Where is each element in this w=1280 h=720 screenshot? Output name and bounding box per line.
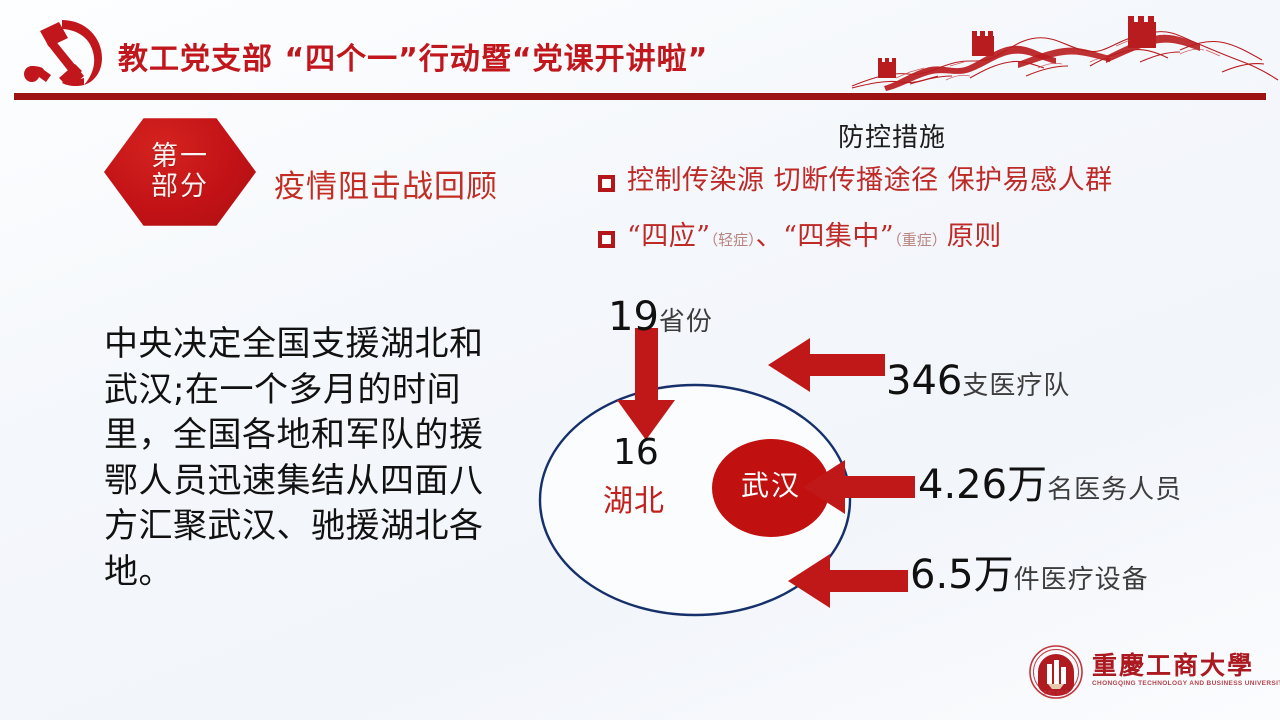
inflow-number-1: 346 xyxy=(886,358,962,404)
inflow-unit-1: 支医疗队 xyxy=(962,371,1070,401)
bullet-2-part-3: 原则 xyxy=(947,221,1002,252)
hubei-count: 16 xyxy=(613,432,659,473)
hubei-label: 湖北 xyxy=(603,476,665,520)
inflow-number-3: 6.5万 xyxy=(910,552,1014,598)
bullet-text-2: “四应”（轻症）、“四集中”（重症）原则 xyxy=(627,221,1002,253)
inflow-top-number: 19 xyxy=(608,294,659,340)
university-name-cn: 重慶工商大學 xyxy=(1092,646,1254,682)
inflow-number-2: 4.26万 xyxy=(918,462,1047,508)
bullet-text-1: 控制传染源 切断传播途径 保护易感人群 xyxy=(627,165,1113,197)
body-paragraph: 中央决定全国支援湖北和武汉;在一个多月的时间里，全国各地和军队的援鄂人员迅速集结… xyxy=(104,322,504,595)
badge-line-1: 第一 xyxy=(151,142,209,172)
left-arrow-icon xyxy=(768,338,885,392)
section-badge-text: 第一 部分 xyxy=(104,116,256,228)
slide-header: 教工党支部 “四个一”行动暨“党课开讲啦” xyxy=(0,0,1280,96)
wuhan-label: 武汉 xyxy=(716,464,826,504)
bullet-2-part-2: 、“四集中” xyxy=(756,221,895,252)
bullet-2-note-2: （重症） xyxy=(894,231,947,249)
university-logo: 重慶工商大學 重慶工商大學 CHONGQING TECHNOLOGY AND B… xyxy=(1028,644,1233,702)
inflow-unit-3: 件医疗设备 xyxy=(1014,565,1149,595)
inflow-unit-2: 名医务人员 xyxy=(1047,475,1182,505)
inflow-label-1: 346支医疗队 xyxy=(886,358,1070,404)
bullet-2-note-1: （轻症） xyxy=(711,231,756,249)
list-item: 控制传染源 切断传播途径 保护易感人群 xyxy=(598,165,1113,197)
section-subtitle: 疫情阻击战回顾 xyxy=(274,161,498,206)
section-badge: 第一 部分 xyxy=(104,116,256,228)
slide-canvas: 教工党支部 “四个一”行动暨“党课开讲啦” xyxy=(0,0,1280,720)
square-bullet-icon xyxy=(598,175,615,192)
list-item: “四应”（轻症）、“四集中”（重症）原则 xyxy=(598,221,1002,253)
university-name-en: CHONGQING TECHNOLOGY AND BUSINESS UNIVER… xyxy=(1092,680,1280,687)
inflow-label-2: 4.26万名医务人员 xyxy=(918,452,1182,510)
badge-line-2: 部分 xyxy=(151,172,209,202)
great-wall-icon xyxy=(850,6,1280,92)
inflow-top-unit: 省份 xyxy=(659,307,713,337)
page-title: 教工党支部 “四个一”行动暨“党课开讲啦” xyxy=(118,34,708,78)
university-seal-icon: 重慶工商大學 xyxy=(1028,644,1084,700)
bullet-2-part-1: “四应” xyxy=(627,221,711,252)
header-divider xyxy=(14,93,1266,100)
hammer-sickle-icon xyxy=(18,14,110,88)
svg-text:重慶工商大學: 重慶工商大學 xyxy=(1043,689,1068,696)
support-flow-diagram: 19省份 16 湖北 武汉 346支医疗队 4.26万名医务人员 6.5万件医疗… xyxy=(500,280,1280,640)
square-bullet-icon xyxy=(598,231,615,248)
measures-heading: 防控措施 xyxy=(838,117,946,154)
inflow-label-3: 6.5万件医疗设备 xyxy=(910,542,1149,600)
inflow-top-label: 19省份 xyxy=(608,294,713,340)
